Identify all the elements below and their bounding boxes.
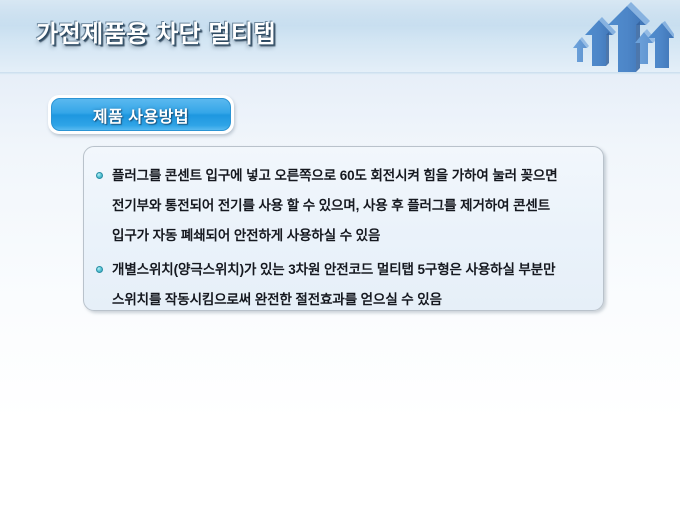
page-title: 가전제품용 차단 멀티탭 bbox=[36, 14, 276, 49]
content-panel: 플러그를 콘센트 입구에 넣고 오른쪽으로 60도 회전시켜 힘을 가하여 눌러… bbox=[83, 146, 604, 311]
bullet-dot-icon bbox=[96, 172, 103, 179]
list-item-text: 개별스위치(양극스위치)가 있는 3차원 안전코드 멀티탭 5구형은 사용하실 … bbox=[112, 262, 555, 307]
slide-canvas: 가전제품용 차단 멀티탭 bbox=[0, 0, 680, 510]
section-heading-button[interactable]: 제품 사용방법 bbox=[48, 95, 234, 134]
list-item: 플러그를 콘센트 입구에 넣고 오른쪽으로 60도 회전시켜 힘을 가하여 눌러… bbox=[95, 161, 587, 251]
list-item-text: 플러그를 콘센트 입구에 넣고 오른쪽으로 60도 회전시켜 힘을 가하여 눌러… bbox=[112, 168, 558, 243]
bullet-list: 플러그를 콘센트 입구에 넣고 오른쪽으로 60도 회전시켜 힘을 가하여 눌러… bbox=[95, 161, 587, 315]
bullet-dot-icon bbox=[96, 266, 103, 273]
section-heading-label: 제품 사용방법 bbox=[93, 103, 189, 127]
upward-arrows-icon bbox=[570, 0, 674, 84]
section-heading-button-face: 제품 사용방법 bbox=[51, 98, 231, 131]
list-item: 개별스위치(양극스위치)가 있는 3차원 안전코드 멀티탭 5구형은 사용하실 … bbox=[95, 255, 587, 315]
